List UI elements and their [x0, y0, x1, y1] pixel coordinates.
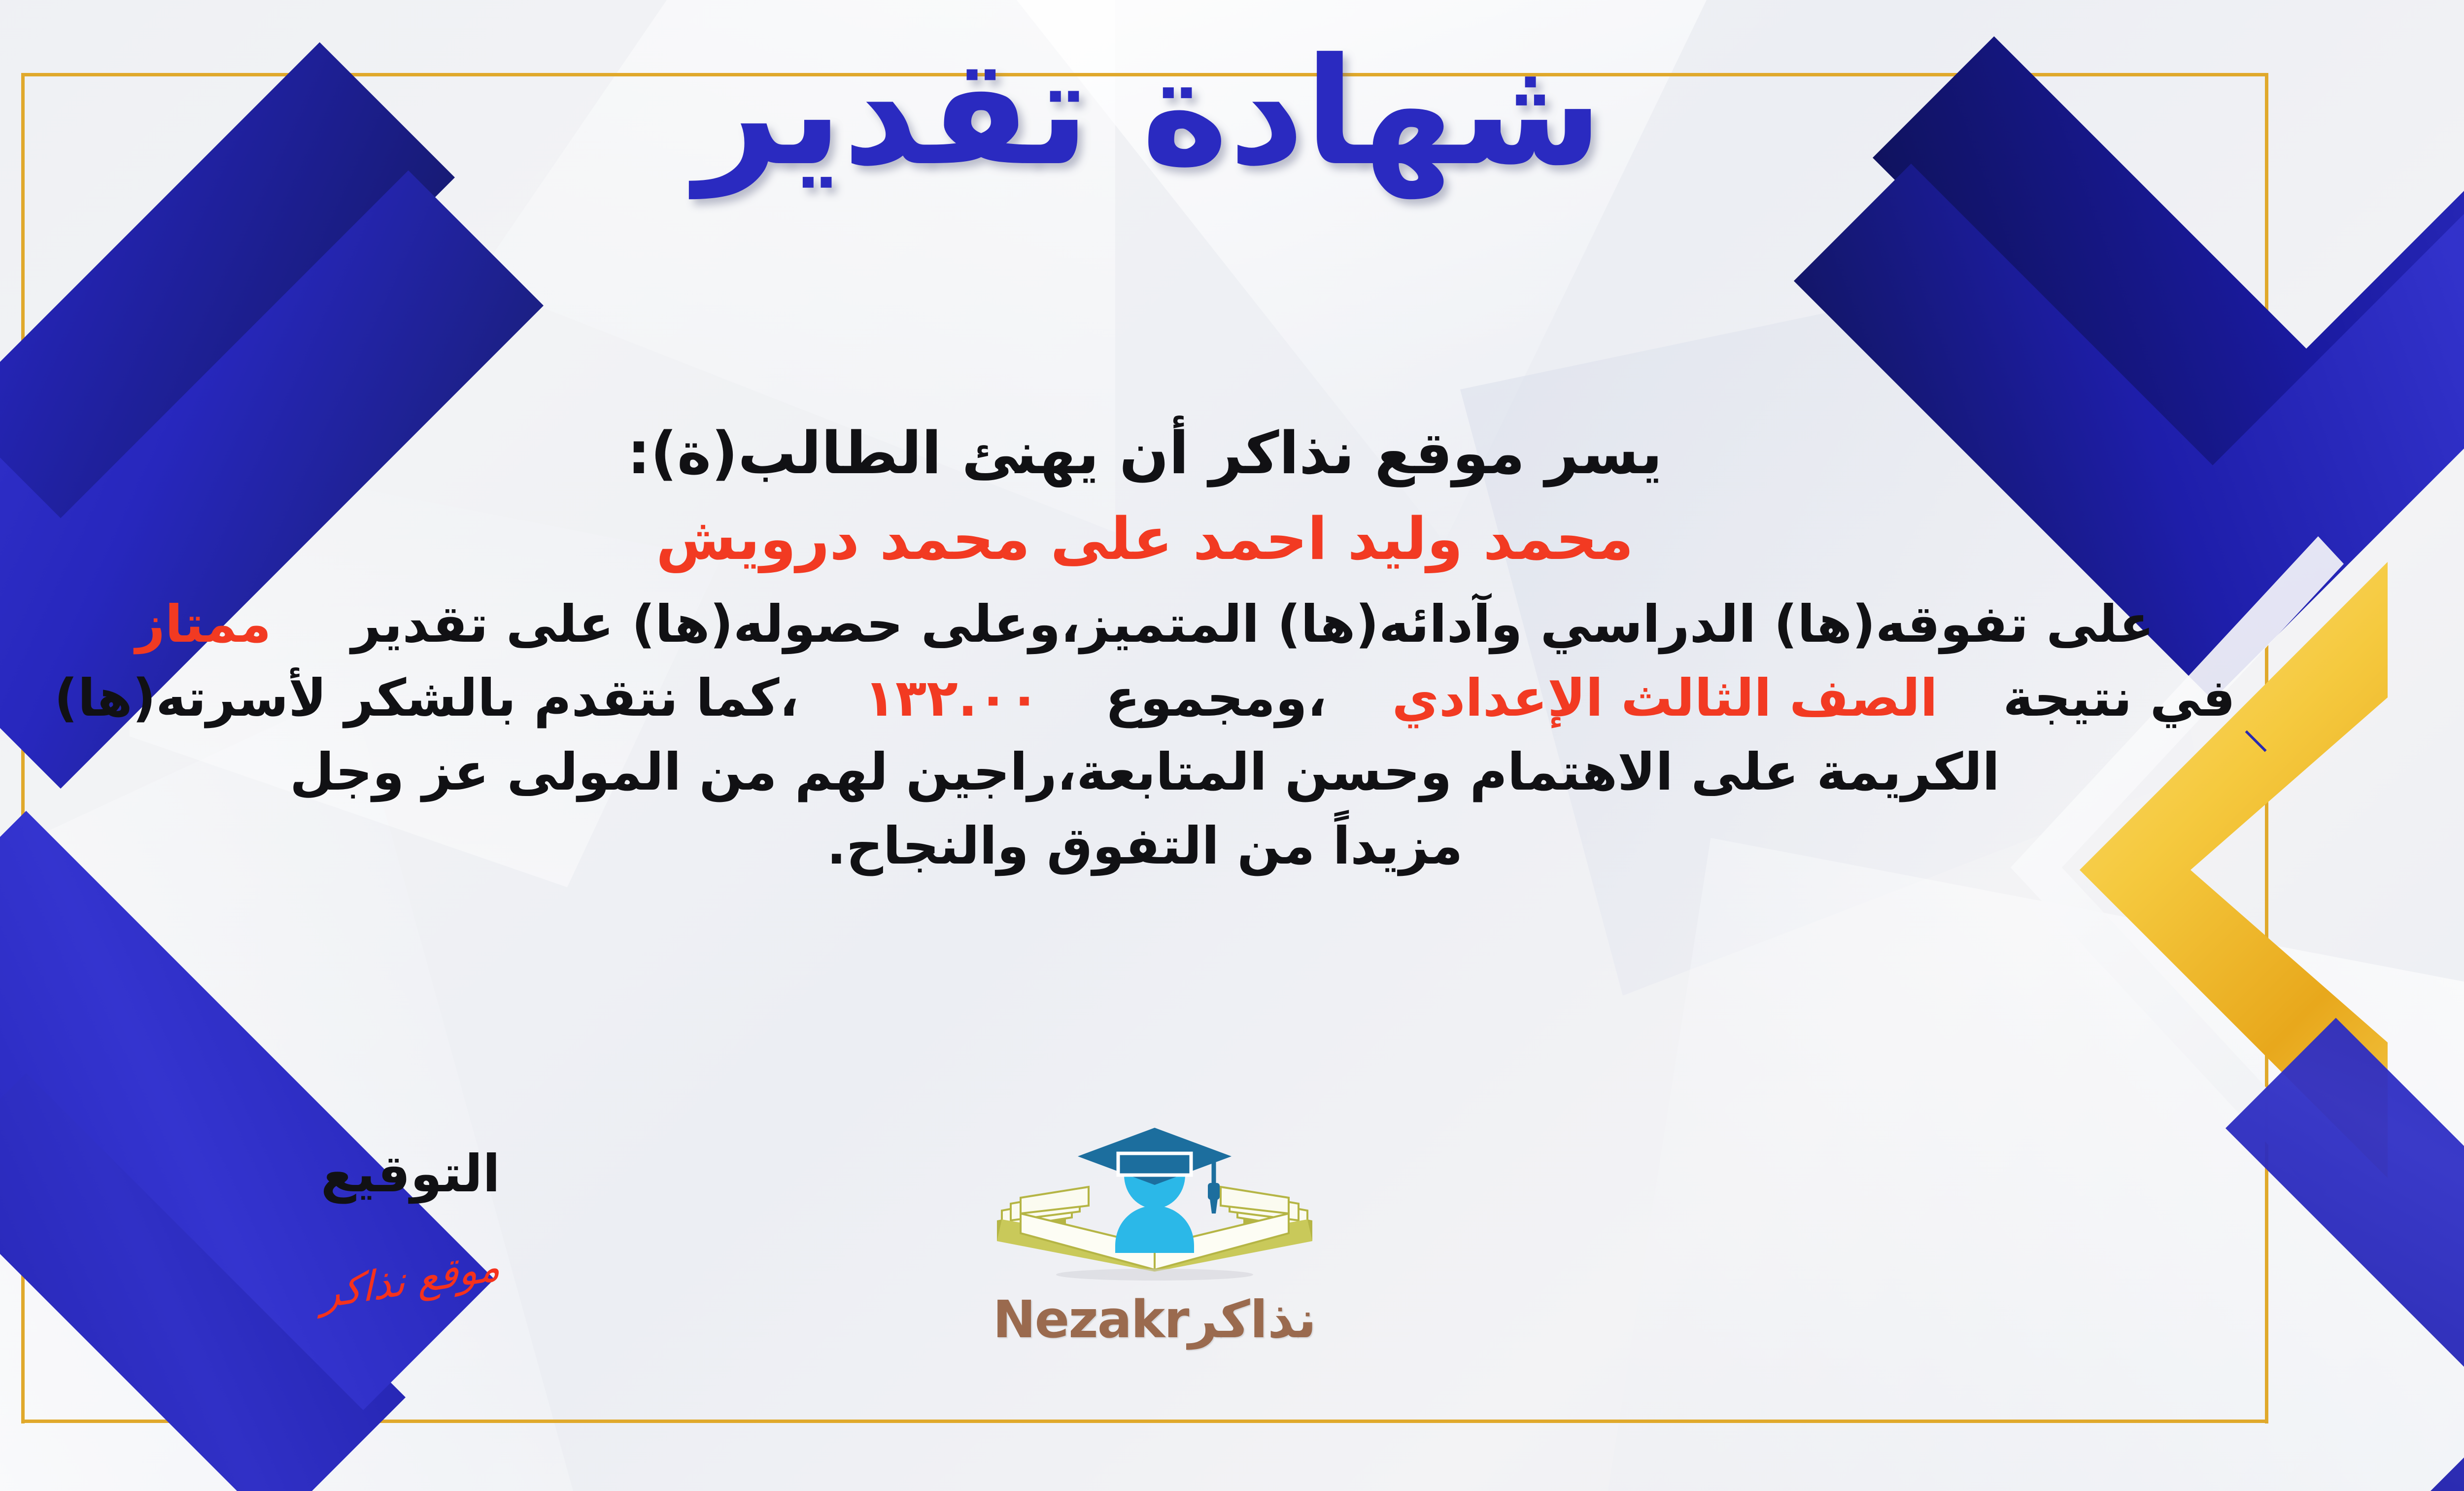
gratitude-line: الكريمة على الاهتمام وحسن المتابعة،راجين…: [21, 746, 2268, 798]
certificate-page: شهادة تقدير يسر موقع نذاكر أن يهنئ الطال…: [0, 0, 2464, 1491]
signature-label: التوقيع: [189, 1144, 632, 1204]
stage-value: الصف الثالث الإعدادي: [1392, 668, 1938, 728]
intro-line: يسر موقع نذاكر أن يهنئ الطالب(ة):: [21, 424, 2268, 482]
result-line: في نتيجة الصف الثالث الإعدادي ،ومجموع ١٣…: [21, 672, 2268, 724]
logo-wordmark: نذاكرNezakr: [967, 1289, 1342, 1350]
grade-value: ممتاز: [136, 594, 272, 654]
corner-ornament-bottom-right: [1942, 1018, 2464, 1491]
signature-block: التوقيع موقع نذاكر: [189, 1144, 632, 1304]
logo-graphic: [967, 1124, 1342, 1286]
closing-line: مزيداً من التفوق والنجاح.: [21, 820, 2268, 871]
achievement-text: على تفوقه(ها) الدراسي وآدائه(ها) المتميز…: [351, 594, 2154, 654]
student-name: محمد وليد احمد على محمد درويش: [21, 510, 2268, 568]
background-facet: [1608, 838, 2464, 1491]
page-title: شهادة تقدير: [0, 35, 2464, 190]
thanks-text: ،كما نتقدم بالشكر لأسرته(ها): [54, 668, 799, 728]
total-value: ١٣٢.٠٠: [864, 668, 1040, 728]
certificate-body: يسر موقع نذاكر أن يهنئ الطالب(ة): محمد و…: [21, 424, 2268, 871]
total-label: ،ومجموع: [1105, 668, 1327, 728]
frame-border-bottom: [21, 1420, 2268, 1423]
result-prefix: في نتيجة: [2003, 668, 2235, 728]
signature-mark: موقع نذاكر: [320, 1243, 500, 1318]
brand-logo: نذاكرNezakr: [967, 1124, 1342, 1350]
achievement-line: على تفوقه(ها) الدراسي وآدائه(ها) المتميز…: [21, 598, 2268, 650]
